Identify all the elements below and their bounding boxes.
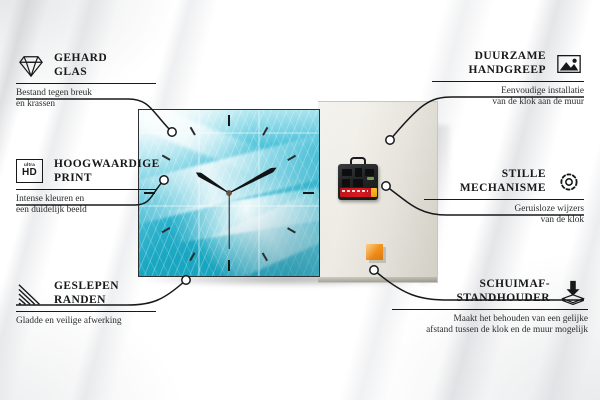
- quartz-clock-movement: [338, 164, 378, 200]
- feature-title-line1: GEHARD: [54, 52, 107, 64]
- product-image: [120, 95, 435, 290]
- feature-header: SCHUIMAF-STANDHOUDER: [384, 278, 588, 305]
- movement-green-marking: [367, 177, 374, 180]
- feature-title-line1: DUURZAME: [475, 50, 546, 62]
- press-down-pad-icon: [558, 279, 588, 305]
- feature-desc-line1: Bestand tegen breuk: [16, 88, 92, 98]
- feature-divider: [424, 199, 584, 200]
- hd-badge-box: ultra HD: [16, 159, 43, 183]
- feature-desc-line2: van de klok aan de muur: [492, 97, 584, 107]
- feature-title-line2: GLAS: [54, 66, 87, 78]
- movement-body: [338, 164, 378, 200]
- clock-tick-3: [303, 192, 314, 194]
- feature-title-line2: MECHANISME: [460, 182, 546, 194]
- feature-description: Bestand tegen breuk en krassen: [16, 88, 164, 111]
- feature-title: SCHUIMAF-STANDHOUDER: [456, 278, 550, 305]
- feature-desc-line2: van de klok: [541, 215, 584, 225]
- movement-notch: [355, 168, 362, 177]
- feature-stille-mechanisme: STILLEMECHANISME Geruisloze wijzers van …: [416, 168, 584, 227]
- feature-divider: [16, 189, 156, 190]
- clock-second-hand: [228, 193, 229, 249]
- feature-description: Eenvoudige installatie van de klok aan d…: [424, 86, 584, 109]
- feature-desc-line2: afstand tussen de klok en de muur mogeli…: [426, 325, 588, 335]
- feature-desc-line1: Geruisloze wijzers: [515, 204, 584, 214]
- feature-gehard-glas: GEHARDGLAS Bestand tegen breuk en krasse…: [16, 52, 164, 111]
- feature-description: Gladde en veilige afwerking: [16, 316, 164, 327]
- gear-icon: [554, 169, 584, 195]
- beveled-edge-icon: [16, 281, 46, 307]
- feature-duurzame-handgreep: DUURZAMEHANDGREEP Eenvoudige installatie…: [424, 50, 584, 109]
- feature-description: Geruisloze wijzers van de klok: [416, 204, 584, 227]
- feature-title-line1: SCHUIMAF-: [480, 278, 551, 290]
- feature-description: Maakt het behouden van een gelijke afsta…: [384, 314, 588, 337]
- feature-desc-line1: Maakt het behouden van een gelijke: [454, 314, 589, 324]
- movement-notch: [342, 179, 350, 187]
- feature-title: STILLEMECHANISME: [460, 168, 546, 195]
- feature-title-line1: GESLEPEN: [54, 280, 119, 292]
- movement-notch: [353, 179, 363, 187]
- feature-title: DUURZAMEHANDGREEP: [468, 50, 546, 77]
- movement-yellow-tab: [371, 188, 377, 197]
- clock-tick-12: [228, 115, 230, 126]
- feature-title-line1: STILLE: [502, 168, 546, 180]
- movement-notch: [342, 169, 352, 176]
- feature-header: DUURZAMEHANDGREEP: [424, 50, 584, 77]
- feature-geslepen-randen: GESLEPENRANDEN Gladde en veilige afwerki…: [16, 280, 164, 327]
- feature-header: GESLEPENRANDEN: [16, 280, 164, 307]
- feature-title: HOOGWAARDIGEPRINT: [54, 158, 160, 185]
- movement-label-text-lines: [342, 190, 368, 192]
- feature-description: Intense kleuren en een duidelijk beeld: [16, 194, 164, 217]
- feature-desc-line2: een duidelijk beeld: [16, 205, 87, 215]
- feature-divider: [432, 81, 584, 82]
- feature-divider: [16, 311, 156, 312]
- movement-notch: [365, 169, 374, 176]
- clock-center-cap: [227, 191, 232, 196]
- feature-title-line2: HANDGREEP: [468, 64, 546, 76]
- feature-desc-line2: en krassen: [16, 99, 55, 109]
- feature-title-line2: PRINT: [54, 172, 92, 184]
- feature-hoogwaardige-print: ultra HD HOOGWAARDIGEPRINT Intense kleur…: [16, 158, 164, 217]
- picture-frame-icon: [554, 51, 584, 77]
- feature-desc-line1: Gladde en veilige afwerking: [16, 316, 122, 326]
- feature-header: STILLEMECHANISME: [416, 168, 584, 195]
- feature-header: GEHARDGLAS: [16, 52, 164, 79]
- foam-spacer-pad: [366, 244, 383, 260]
- diamond-icon: [16, 53, 46, 79]
- hd-badge-hd-text: HD: [22, 168, 37, 178]
- feature-schuimaf-standhouder: SCHUIMAF-STANDHOUDER Maakt het behouden …: [384, 278, 588, 337]
- ultra-hd-badge-icon: ultra HD: [16, 159, 46, 185]
- feature-desc-line1: Intense kleuren en: [16, 194, 84, 204]
- feature-title: GEHARDGLAS: [54, 52, 107, 79]
- clock-face-glass-panel: [138, 109, 320, 277]
- feature-header: ultra HD HOOGWAARDIGEPRINT: [16, 158, 164, 185]
- feature-title: GESLEPENRANDEN: [54, 280, 119, 307]
- feature-desc-line1: Eenvoudige installatie: [501, 86, 584, 96]
- feature-divider: [16, 83, 156, 84]
- feature-title-line2: STANDHOUDER: [456, 292, 550, 304]
- feature-title-line2: RANDEN: [54, 294, 106, 306]
- foam-pad-sheen: [366, 244, 383, 260]
- feature-divider: [392, 309, 588, 310]
- clock-tick-6: [228, 260, 230, 271]
- infographic-canvas: GEHARDGLAS Bestand tegen breuk en krasse…: [0, 0, 600, 400]
- feature-title-line1: HOOGWAARDIGE: [54, 158, 160, 170]
